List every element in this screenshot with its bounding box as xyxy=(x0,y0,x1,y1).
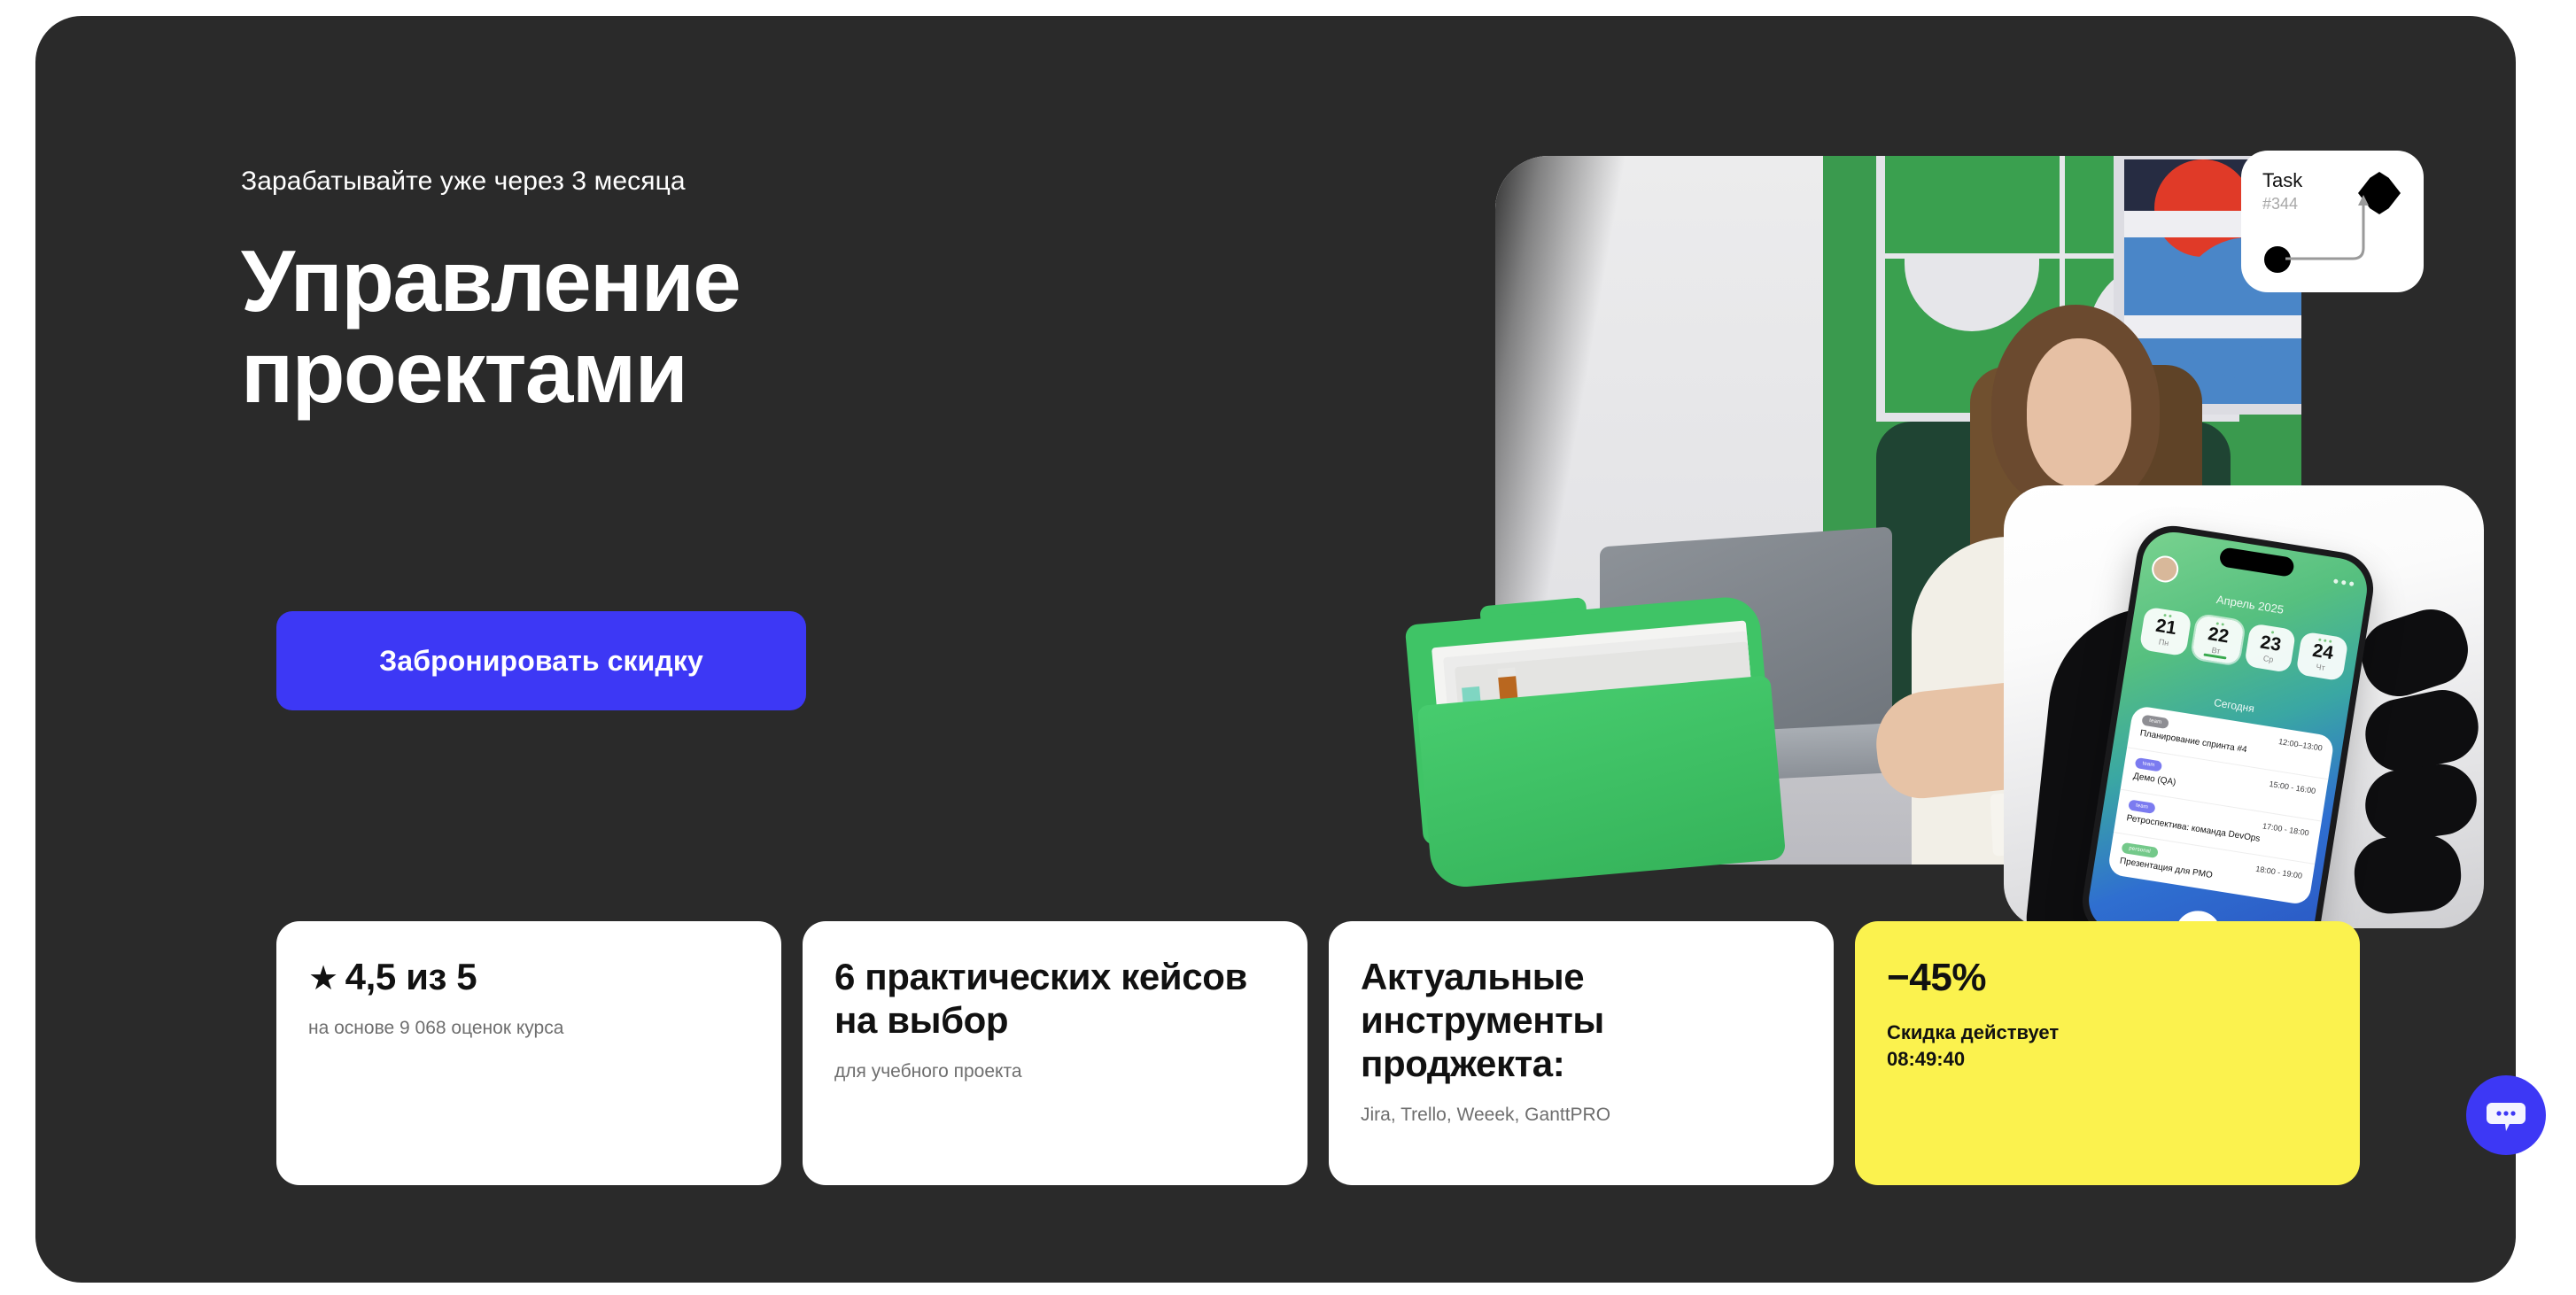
agenda-chip: team xyxy=(2128,799,2156,814)
agenda-chip: personal xyxy=(2122,841,2159,857)
finger-3 xyxy=(2361,760,2481,846)
rating-subtext: на основе 9 068 оценок курса xyxy=(308,1016,749,1041)
day-marker-icon xyxy=(2271,631,2274,633)
phone-notch xyxy=(2218,547,2294,578)
cases-title: 6 практических кейсов на выбор xyxy=(834,955,1276,1042)
hero-collage: Task #344 Апрель 2025 xyxy=(1495,140,2390,937)
calendar-day-selected[interactable]: 22 Вт xyxy=(2192,615,2245,665)
avatar[interactable] xyxy=(2150,554,2180,584)
agenda-chip: team xyxy=(2141,715,2169,730)
agenda-list: team 12:00–13:00 Планирование спринта #4… xyxy=(2107,705,2335,906)
green-folder xyxy=(1396,593,1790,890)
star-icon: ★ xyxy=(308,960,338,997)
rating-card: ★4,5 из 5 на основе 9 068 оценок курса xyxy=(276,921,781,1185)
agenda-chip: team xyxy=(2135,756,2163,772)
page-title: Управление проектами xyxy=(241,236,1286,420)
chat-widget-button[interactable] xyxy=(2466,1075,2546,1155)
chat-bubble-icon xyxy=(2487,1097,2526,1133)
tools-card: Актуальные инструменты проджекта: Jira, … xyxy=(1329,921,1834,1185)
discount-timer-label: Скидка действует xyxy=(1887,1021,2059,1043)
hero-eyebrow: Зарабатывайте уже через 3 месяца xyxy=(241,165,1286,198)
arrow-connector-icon xyxy=(2284,190,2381,269)
calendar-day[interactable]: 21 Пн xyxy=(2139,607,2192,657)
discount-value: −45% xyxy=(1887,955,2328,1000)
discount-timer: Скидка действует 08:49:40 xyxy=(1887,1020,2328,1072)
discount-card: −45% Скидка действует 08:49:40 xyxy=(1855,921,2360,1185)
discount-countdown: 08:49:40 xyxy=(1887,1048,1965,1070)
tools-list: Jira, Trello, Weeek, GanttPRO xyxy=(1361,1103,1802,1128)
agenda-time: 12:00–13:00 xyxy=(2278,737,2324,753)
folder-front xyxy=(1417,675,1787,889)
hero-panel: Зарабатывайте уже через 3 месяца Управле… xyxy=(35,16,2516,1283)
feature-cards: ★4,5 из 5 на основе 9 068 оценок курса 6… xyxy=(276,921,2360,1185)
finger-1 xyxy=(2353,601,2478,706)
book-discount-button[interactable]: Забронировать скидку xyxy=(276,611,806,710)
more-options-icon[interactable] xyxy=(2333,578,2354,586)
cases-subtext: для учебного проекта xyxy=(834,1059,1276,1084)
hero-title-line-2: проектами xyxy=(241,323,687,421)
calendar-day[interactable]: 23 Ср xyxy=(2244,623,2297,673)
finger-2 xyxy=(2359,684,2484,779)
task-card: Task #344 xyxy=(2241,151,2424,292)
rating-text: 4,5 из 5 xyxy=(345,956,477,997)
finger-4 xyxy=(2352,833,2463,916)
calendar-day[interactable]: 24 Чт xyxy=(2296,632,2349,682)
tools-title: Актуальные инструменты проджекта: xyxy=(1361,955,1802,1085)
hero-title-line-1: Управление xyxy=(241,232,740,330)
smartphone: Апрель 2025 21 Пн 22 Вт xyxy=(2077,521,2378,928)
phone-mockup-card: Апрель 2025 21 Пн 22 Вт xyxy=(2004,485,2484,928)
cases-card: 6 практических кейсов на выбор для учебн… xyxy=(803,921,1307,1185)
hero-copy: Зарабатывайте уже через 3 месяца Управле… xyxy=(241,165,1286,419)
phone-screen: Апрель 2025 21 Пн 22 Вт xyxy=(2084,528,2371,928)
rating-value: ★4,5 из 5 xyxy=(308,955,749,998)
